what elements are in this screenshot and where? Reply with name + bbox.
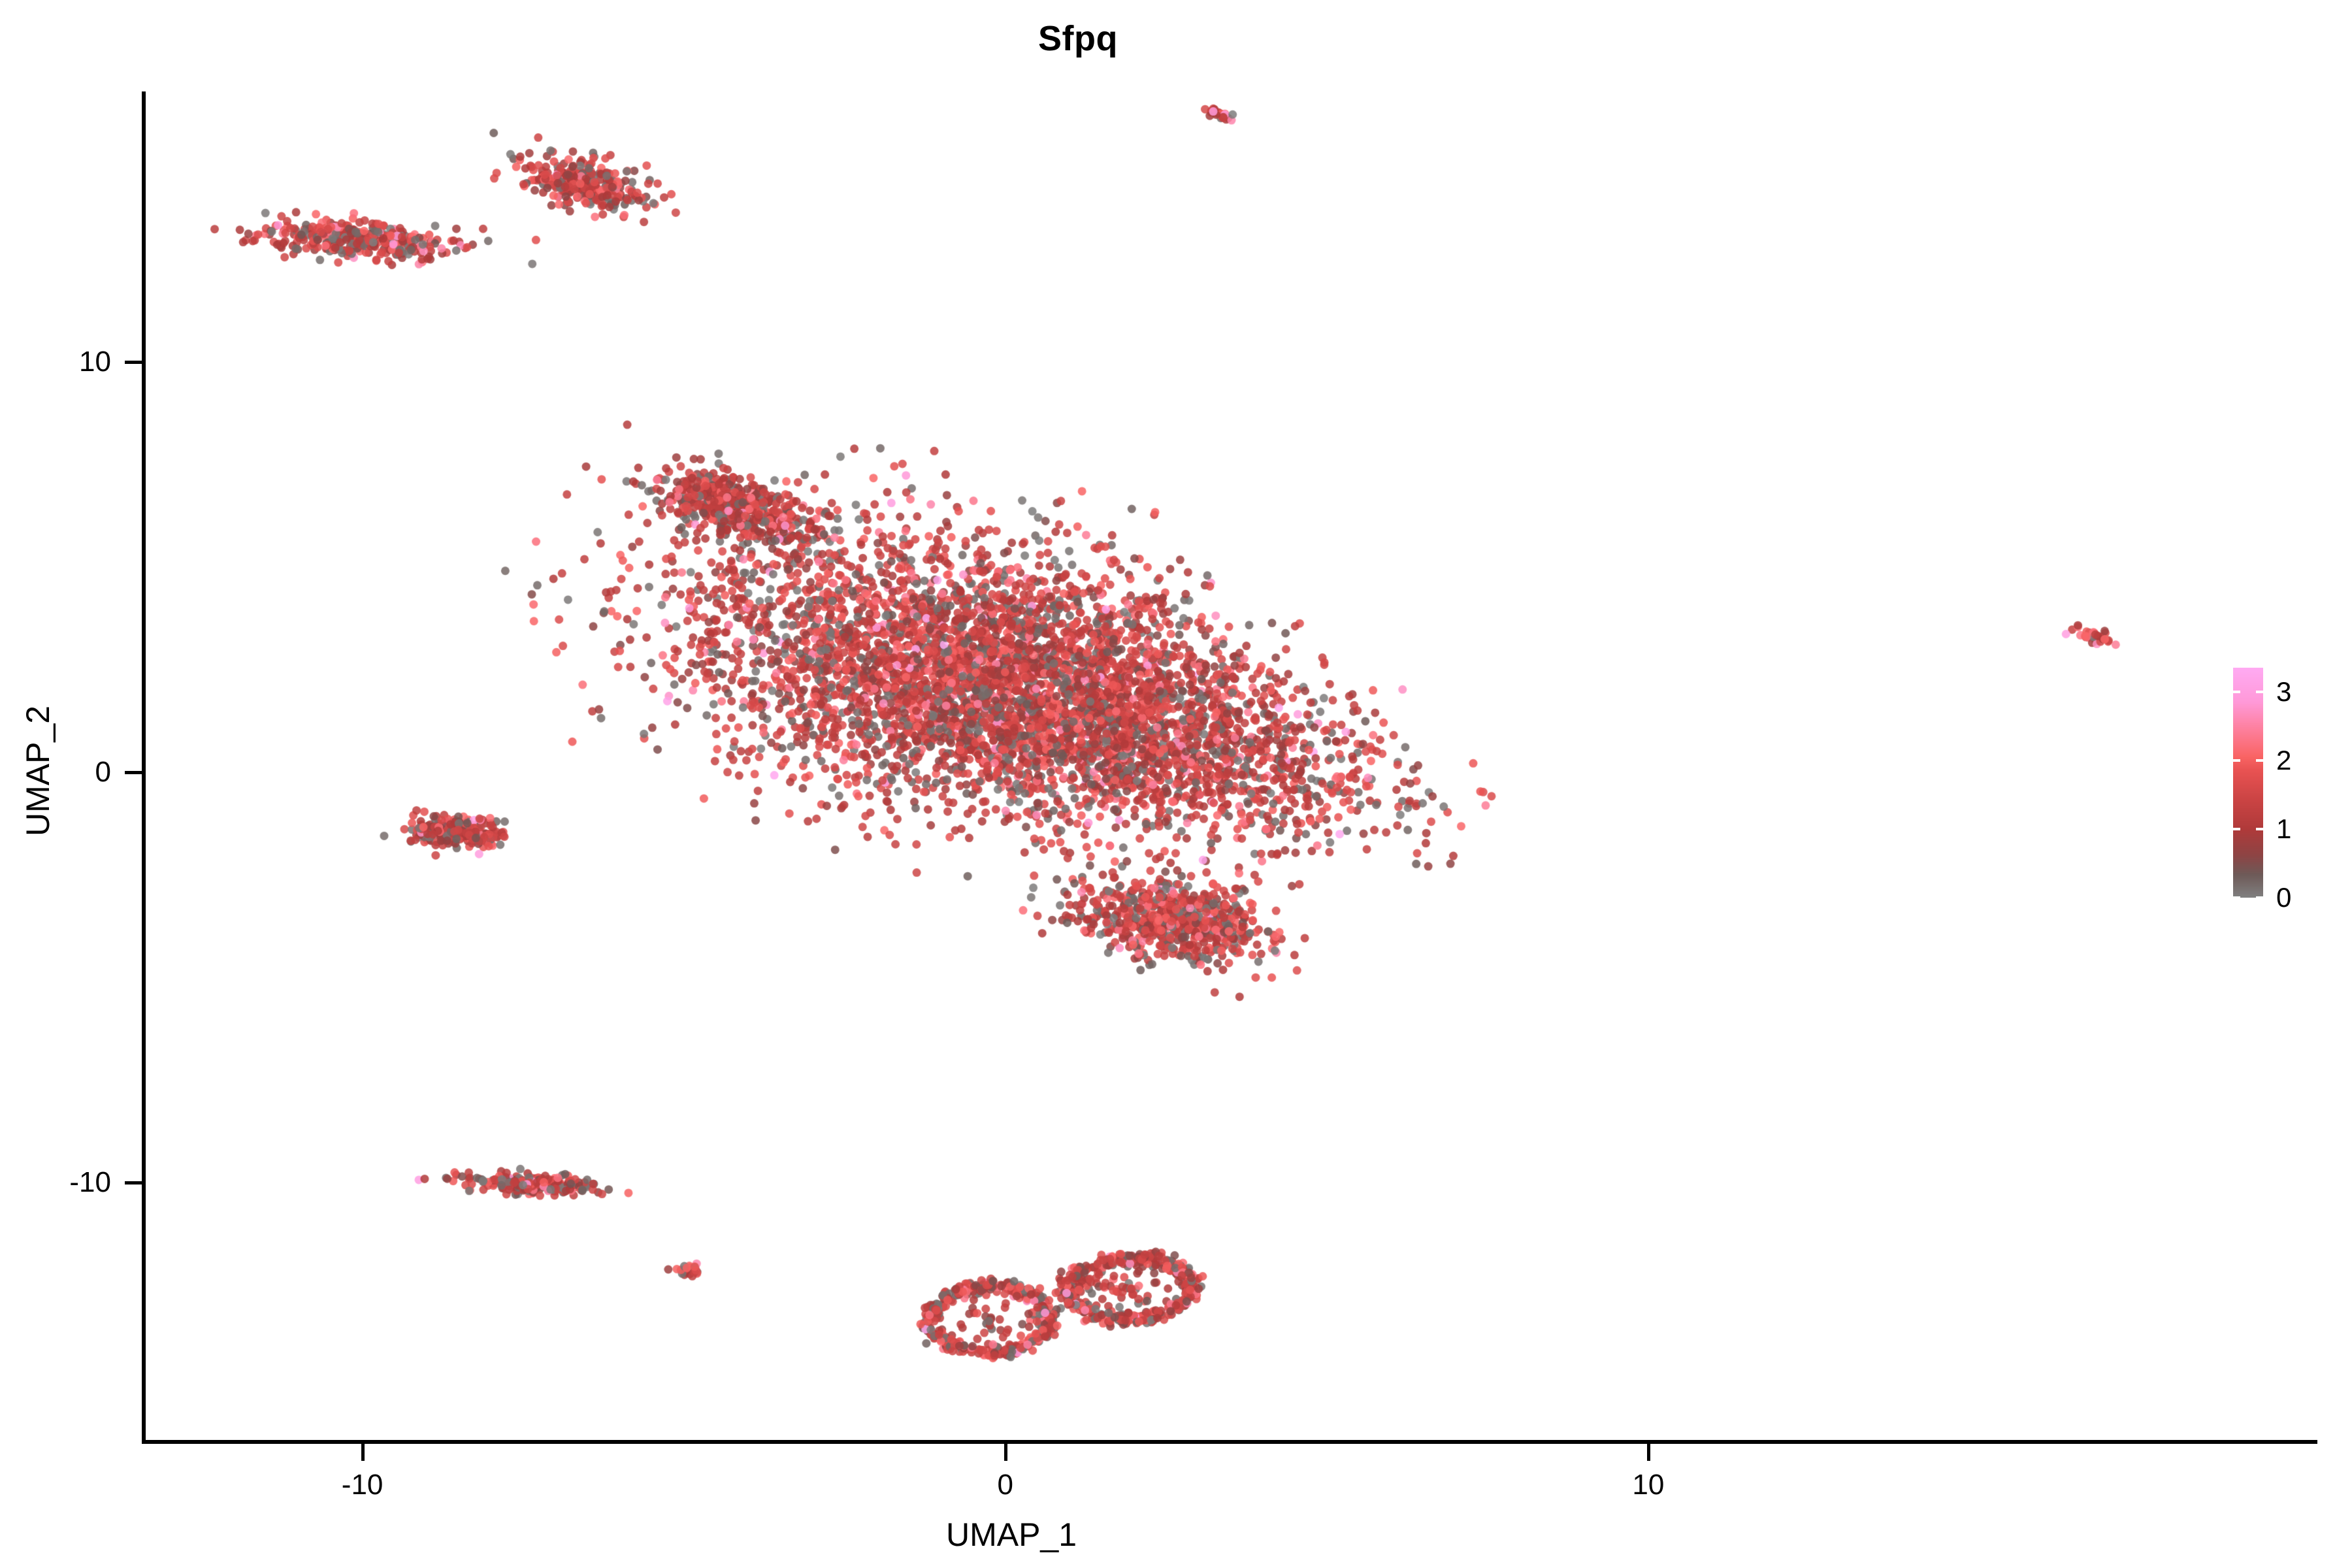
- colorbar-gradient: [2233, 668, 2263, 898]
- y-axis-line: [142, 91, 146, 1444]
- color-legend: 0123: [2233, 668, 2344, 903]
- page-title: Sfpq: [0, 18, 2156, 59]
- x-tick-mark: [1647, 1444, 1650, 1461]
- y-tick-label: 0: [95, 756, 111, 789]
- colorbar-tick-label: 0: [2276, 882, 2291, 913]
- colorbar-tick-mark: [2233, 759, 2240, 762]
- y-tick-label: -10: [69, 1166, 111, 1199]
- x-tick-mark: [361, 1444, 365, 1461]
- colorbar-tick-mark: [2256, 691, 2263, 693]
- scatter-points-layer: [144, 91, 2169, 1441]
- colorbar-tick-mark: [2233, 828, 2240, 830]
- x-axis-title: UMAP_1: [946, 1516, 1077, 1554]
- x-tick-label: -10: [342, 1469, 384, 1501]
- plot-panel: [144, 91, 2169, 1441]
- y-tick-label: 10: [79, 346, 111, 378]
- colorbar-tick-mark: [2256, 828, 2263, 830]
- x-axis-line: [142, 1440, 2317, 1444]
- x-tick-label: 0: [997, 1469, 1013, 1501]
- y-tick-mark: [125, 1181, 142, 1184]
- x-tick-mark: [1004, 1444, 1007, 1461]
- umap-feature-plot: Sfpq -10010 -10010 UMAP_1 UMAP_2 0123: [0, 0, 2352, 1568]
- colorbar-tick-label: 1: [2276, 813, 2291, 845]
- colorbar-tick-mark: [2233, 691, 2240, 693]
- y-axis-title: UMAP_2: [19, 706, 57, 836]
- y-tick-mark: [125, 361, 142, 364]
- colorbar-tick-mark: [2256, 896, 2263, 899]
- colorbar-tick-mark: [2256, 759, 2263, 762]
- y-tick-mark: [125, 771, 142, 774]
- x-tick-label: 10: [1632, 1469, 1664, 1501]
- colorbar-tick-label: 3: [2276, 676, 2291, 708]
- colorbar-tick-label: 2: [2276, 745, 2291, 776]
- colorbar-tick-mark: [2233, 896, 2240, 899]
